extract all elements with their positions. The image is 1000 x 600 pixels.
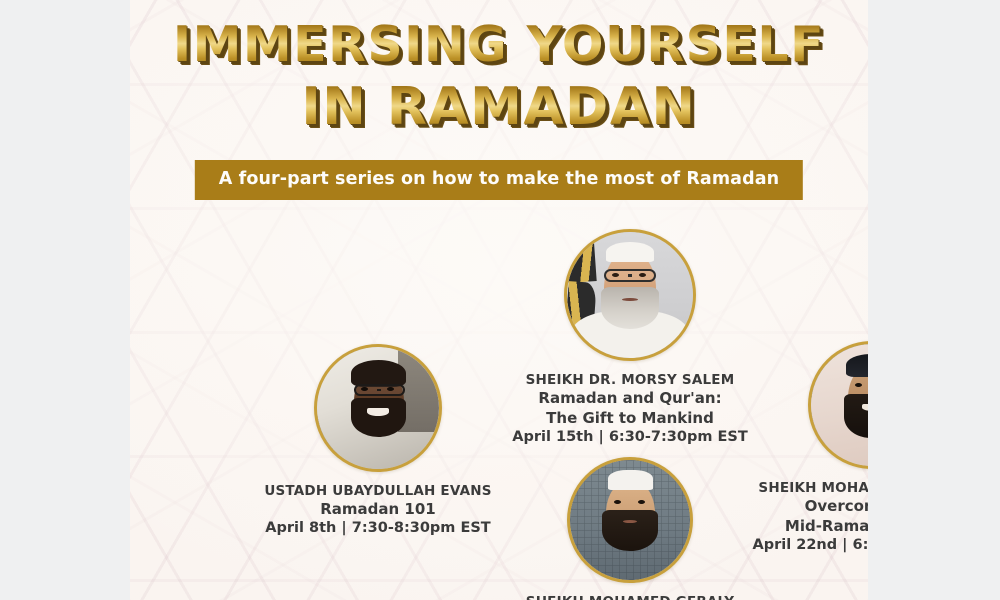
poster-headline: IMMERSING YOURSELF IN RAMADAN bbox=[130, 20, 868, 133]
avatar-ustadh-ubaydullah-evans bbox=[314, 344, 442, 472]
speaker-card-ishtiaq: SHEIKH MOHAMMED ISHTIAQ Overcoming the M… bbox=[746, 341, 868, 553]
avatar-sheikh-dr-morsy-salem bbox=[564, 229, 696, 361]
screenshot-canvas: IMMERSING YOURSELF IN RAMADAN A four-par… bbox=[0, 0, 1000, 600]
speaker-topic-line-1: Ramadan 101 bbox=[252, 500, 504, 519]
title-line-1: IMMERSING YOURSELF bbox=[130, 20, 868, 69]
letterbox-left bbox=[0, 0, 130, 600]
speaker-card-evans: USTADH UBAYDULLAH EVANS Ramadan 101 Apri… bbox=[252, 344, 504, 536]
speaker-name: SHEIKH MOHAMED GEBALY bbox=[505, 594, 755, 600]
speaker-card-gebaly: SHEIKH MOHAMED GEBALY bbox=[505, 457, 755, 600]
speaker-name: SHEIKH DR. MORSY SALEM bbox=[499, 372, 761, 388]
speaker-card-morsy: SHEIKH DR. MORSY SALEM Ramadan and Qur'a… bbox=[499, 229, 761, 445]
speaker-topic-line-2: The Gift to Mankind bbox=[499, 409, 761, 428]
speaker-topic-line-2: Mid-Ramadan Slump bbox=[746, 517, 868, 536]
speaker-name: SHEIKH MOHAMMED ISHTIAQ bbox=[746, 480, 868, 496]
speaker-name: USTADH UBAYDULLAH EVANS bbox=[252, 483, 504, 499]
avatar-sheikh-mohamed-gebaly bbox=[567, 457, 693, 583]
speaker-topic-line-1: Overcoming the bbox=[746, 497, 868, 516]
subtitle-banner: A four-part series on how to make the mo… bbox=[195, 160, 803, 200]
speaker-datetime: April 8th | 7:30-8:30pm EST bbox=[252, 520, 504, 536]
title-line-2: IN RAMADAN bbox=[130, 81, 868, 133]
event-poster: IMMERSING YOURSELF IN RAMADAN A four-par… bbox=[130, 0, 868, 600]
letterbox-right bbox=[868, 0, 1000, 600]
speaker-datetime: April 22nd | 6:30-7:30pm EST bbox=[746, 537, 868, 553]
avatar-sheikh-mohammed-ishtiaq bbox=[808, 341, 868, 469]
speaker-datetime: April 15th | 6:30-7:30pm EST bbox=[499, 429, 761, 445]
subtitle-text: A four-part series on how to make the mo… bbox=[219, 169, 779, 189]
speaker-topic-line-1: Ramadan and Qur'an: bbox=[499, 389, 761, 408]
